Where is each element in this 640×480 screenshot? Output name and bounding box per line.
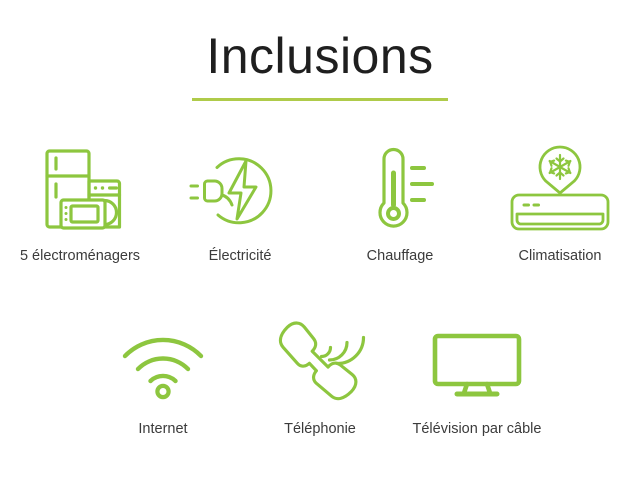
inclusion-item-television[interactable]: Télévision par câble <box>399 326 556 438</box>
inclusion-label: Internet <box>138 420 187 438</box>
inclusion-item-internet[interactable]: Internet <box>85 326 242 438</box>
inclusion-item-heating[interactable]: Chauffage <box>320 143 480 265</box>
inclusion-label: Climatisation <box>519 247 602 265</box>
inclusion-label: Téléphonie <box>284 420 356 438</box>
title-underline-rule <box>192 98 448 101</box>
air-conditioner-icon <box>506 143 614 235</box>
inclusion-item-telephone[interactable]: Téléphonie <box>242 326 399 438</box>
inclusion-label: Électricité <box>209 247 272 265</box>
appliances-icon <box>32 143 128 235</box>
inclusion-item-air-conditioning[interactable]: Climatisation <box>480 143 640 265</box>
inclusion-item-appliances[interactable]: 5 électroménagers <box>0 143 160 265</box>
title-block: Inclusions <box>0 26 640 101</box>
page-title: Inclusions <box>0 26 640 86</box>
inclusions-row-1: 5 électroménagers Électri <box>0 143 640 265</box>
inclusion-item-electricity[interactable]: Électricité <box>160 143 320 265</box>
inclusion-label: Chauffage <box>367 247 434 265</box>
television-icon <box>431 326 523 404</box>
electricity-plug-icon <box>194 143 286 235</box>
wifi-icon <box>119 326 207 404</box>
thermometer-icon <box>354 143 446 235</box>
telephone-icon <box>278 326 362 404</box>
inclusions-slide: Inclusions <box>0 0 640 480</box>
inclusion-label: Télévision par câble <box>413 420 542 438</box>
inclusion-label: 5 électroménagers <box>20 247 140 265</box>
inclusions-row-2: Internet Téléphonie <box>0 326 640 438</box>
